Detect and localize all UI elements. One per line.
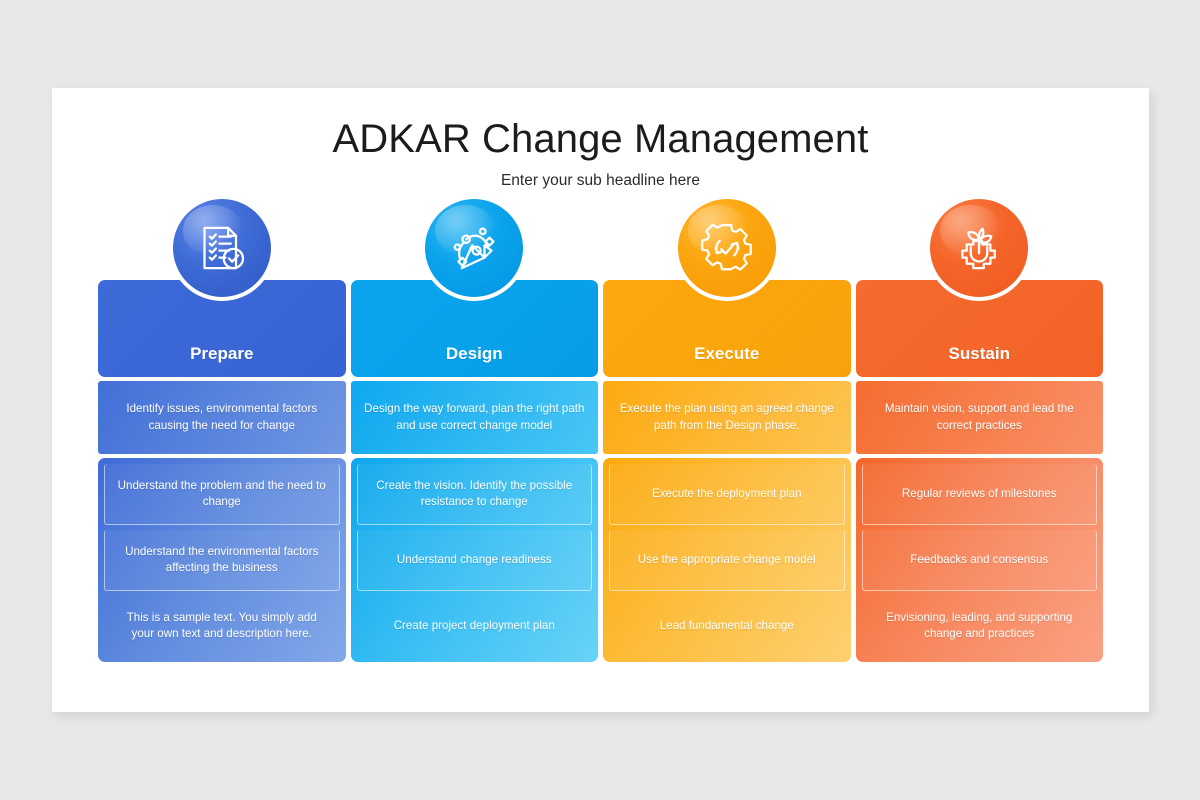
column-label: Design (446, 344, 503, 364)
column-lead-text: Design the way forward, plan the right p… (351, 381, 599, 454)
page-title: ADKAR Change Management (52, 117, 1149, 162)
column-label: Execute (694, 344, 759, 364)
list-item: Understand the environmental factors aff… (104, 530, 340, 591)
list-item: Create project deployment plan (357, 596, 593, 656)
gear-check-icon (674, 195, 780, 301)
list-item: Envisioning, leading, and supporting cha… (862, 596, 1098, 656)
pen-tool-icon (421, 195, 527, 301)
column-lead-text: Identify issues, environmental factors c… (98, 381, 346, 454)
column-lead-text: Maintain vision, support and lead the co… (856, 381, 1104, 454)
list-item: Create the vision. Identify the possible… (357, 464, 593, 525)
list-item: Regular reviews of milestones (862, 464, 1098, 525)
adkar-column-prepare[interactable]: Prepare Identify issues, environmental f… (98, 280, 346, 662)
list-item: Understand change readiness (357, 530, 593, 591)
list-item: Feedbacks and consensus (862, 530, 1098, 591)
list-item: Execute the deployment plan (609, 464, 845, 525)
adkar-columns: Prepare Identify issues, environmental f… (98, 280, 1103, 662)
adkar-column-design[interactable]: Design Design the way forward, plan the … (351, 280, 599, 662)
list-item: Lead fundamental change (609, 596, 845, 656)
column-bullets: Regular reviews of milestones Feedbacks … (856, 458, 1104, 662)
column-bullets: Understand the problem and the need to c… (98, 458, 346, 662)
adkar-column-execute[interactable]: Execute Execute the plan using an agreed… (603, 280, 851, 662)
icon-badge-sustain (926, 195, 1032, 301)
icon-badge-design (421, 195, 527, 301)
column-bullets: Execute the deployment plan Use the appr… (603, 458, 851, 662)
slide-canvas: ADKAR Change Management Enter your sub h… (52, 88, 1149, 712)
column-label: Sustain (949, 344, 1010, 364)
column-lead-text: Execute the plan using an agreed change … (603, 381, 851, 454)
sprout-gear-icon (926, 195, 1032, 301)
column-bullets: Create the vision. Identify the possible… (351, 458, 599, 662)
list-item: Understand the problem and the need to c… (104, 464, 340, 525)
icon-badge-execute (674, 195, 780, 301)
checklist-document-icon (169, 195, 275, 301)
icon-badge-prepare (169, 195, 275, 301)
list-item: This is a sample text. You simply add yo… (104, 596, 340, 656)
list-item: Use the appropriate change model (609, 530, 845, 591)
page-subtitle: Enter your sub headline here (52, 172, 1149, 190)
column-label: Prepare (190, 344, 253, 364)
adkar-column-sustain[interactable]: Sustain Maintain vision, support and lea… (856, 280, 1104, 662)
